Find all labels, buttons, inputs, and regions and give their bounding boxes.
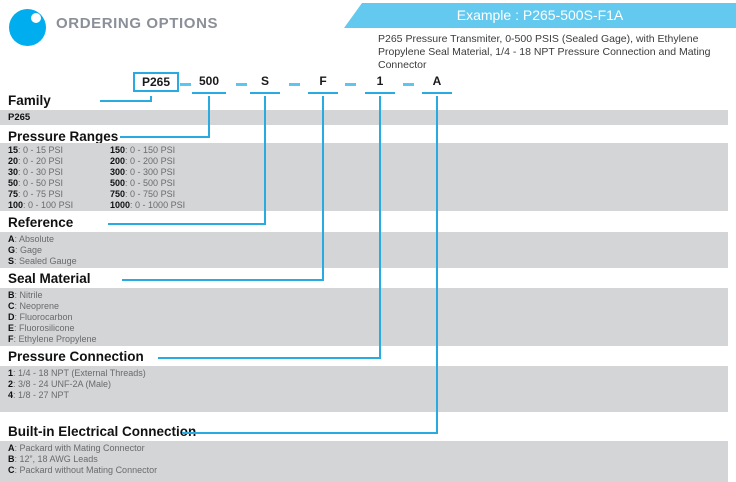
ordering-options-page: ORDERING OPTIONS Example : P265-500S-F1A… (0, 0, 736, 482)
code-underline (422, 92, 452, 94)
code-underline (192, 92, 226, 94)
code-underline (365, 92, 395, 94)
page-title: ORDERING OPTIONS (56, 15, 218, 32)
code-underline (250, 92, 280, 94)
code-segment-electrical-connection[interactable]: A (422, 74, 452, 88)
option-reference: A: Absolute (8, 234, 54, 244)
option-pressure-range: 300: 0 - 300 PSI (110, 167, 175, 177)
option-electrical-connection: B: 12”, 18 AWG Leads (8, 454, 98, 464)
option-pressure-range: 500: 0 - 500 PSI (110, 178, 175, 188)
option-pressure-range: 100: 0 - 100 PSI (8, 200, 73, 210)
section-title-seal-material: Seal Material (8, 271, 91, 286)
section-title-pressure-connection: Pressure Connection (8, 349, 144, 364)
code-segment-seal-material[interactable]: F (308, 74, 338, 88)
code-separator-dash (180, 83, 191, 86)
option-seal-material: F: Ethylene Propylene (8, 334, 97, 344)
option-family-p265: P265 (8, 112, 30, 123)
example-description: P265 Pressure Transmiter, 0-500 PSIS (Se… (378, 33, 730, 72)
option-seal-material: C: Neoprene (8, 301, 59, 311)
option-seal-material: B: Nitrile (8, 290, 43, 300)
code-separator-dash (345, 83, 356, 86)
code-segment-pressure-connection[interactable]: 1 (365, 74, 395, 88)
circle-highlight-dot-icon (31, 13, 41, 23)
section-title-pressure-ranges: Pressure Ranges (8, 129, 118, 144)
option-pressure-connection: 4: 1/8 - 27 NPT (8, 390, 69, 400)
section-title-reference: Reference (8, 215, 73, 230)
option-pressure-range: 30: 0 - 30 PSI (8, 167, 63, 177)
option-seal-material: E: Fluorosilicone (8, 323, 75, 333)
option-pressure-range: 20: 0 - 20 PSI (8, 156, 63, 166)
option-pressure-range: 50: 0 - 50 PSI (8, 178, 63, 188)
section-band-reference (0, 232, 728, 268)
section-band-family (0, 110, 728, 125)
option-seal-material: D: Fluorocarbon (8, 312, 73, 322)
section-title-family: Family (8, 93, 51, 108)
option-pressure-connection: 2: 3/8 - 24 UNF-2A (Male) (8, 379, 111, 389)
section-title-electrical-connection: Built-in Electrical Connection (8, 424, 196, 439)
code-separator-dash (289, 83, 300, 86)
code-separator-dash (236, 83, 247, 86)
section-band-seal-material (0, 288, 728, 346)
option-reference: G: Gage (8, 245, 42, 255)
option-electrical-connection: C: Packard without Mating Connector (8, 465, 157, 475)
code-underline (308, 92, 338, 94)
code-segment-pressure-range[interactable]: 500 (192, 74, 226, 88)
example-banner-label: Example : P265-500S-F1A (344, 5, 736, 30)
option-pressure-connection: 1: 1/4 - 18 NPT (External Threads) (8, 368, 146, 378)
option-pressure-range: 15: 0 - 15 PSI (8, 145, 63, 155)
option-pressure-range: 75: 0 - 75 PSI (8, 189, 63, 199)
option-pressure-range: 1000: 0 - 1000 PSI (110, 200, 185, 210)
code-segment-reference[interactable]: S (250, 74, 280, 88)
leader-line-family (100, 96, 151, 101)
code-separator-dash (403, 83, 414, 86)
filled-circle-icon (9, 9, 46, 46)
option-reference: S: Sealed Gauge (8, 256, 77, 266)
option-electrical-connection: A: Packard with Mating Connector (8, 443, 145, 453)
option-pressure-range: 750: 0 - 750 PSI (110, 189, 175, 199)
part-number-code-row: P265 500 S F 1 A (0, 74, 736, 96)
code-segment-family[interactable]: P265 (133, 72, 179, 92)
option-pressure-range: 150: 0 - 150 PSI (110, 145, 175, 155)
option-pressure-range: 200: 0 - 200 PSI (110, 156, 175, 166)
